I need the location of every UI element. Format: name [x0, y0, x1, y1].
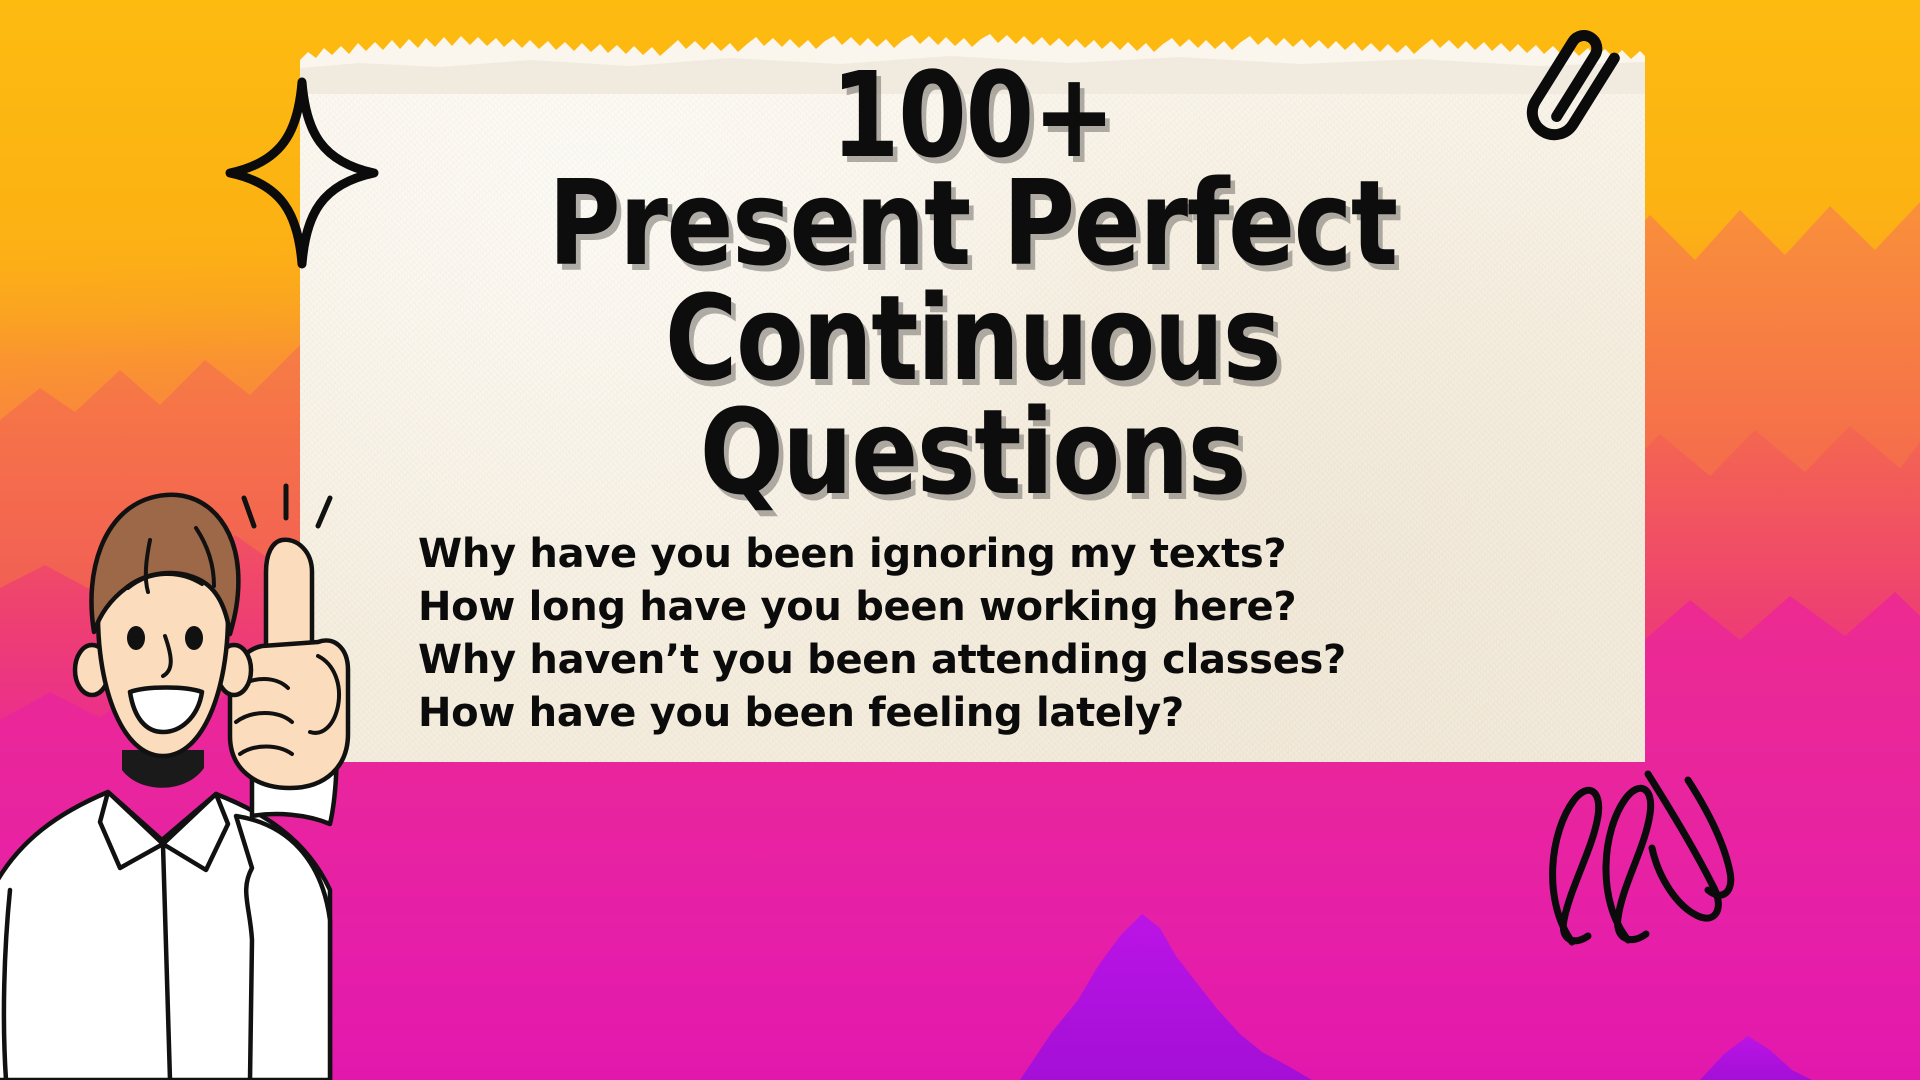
- question-list: Why have you been ignoring my texts? How…: [418, 528, 1518, 740]
- question-item: How have you been feeling lately?: [418, 687, 1518, 740]
- poster-canvas: 100+ Present Perfect Continuous Question…: [0, 0, 1920, 1080]
- question-item: Why have you been ignoring my texts?: [418, 528, 1518, 581]
- pointing-man-illustration: [0, 420, 430, 1080]
- paper-torn-edge: [300, 34, 1645, 94]
- paperclip-icon: [1520, 24, 1630, 154]
- scribble-icon: [1530, 760, 1750, 950]
- question-item: How long have you been working here?: [418, 581, 1518, 634]
- sparkle-icon: [222, 78, 382, 268]
- question-item: Why haven’t you been attending classes?: [418, 634, 1518, 687]
